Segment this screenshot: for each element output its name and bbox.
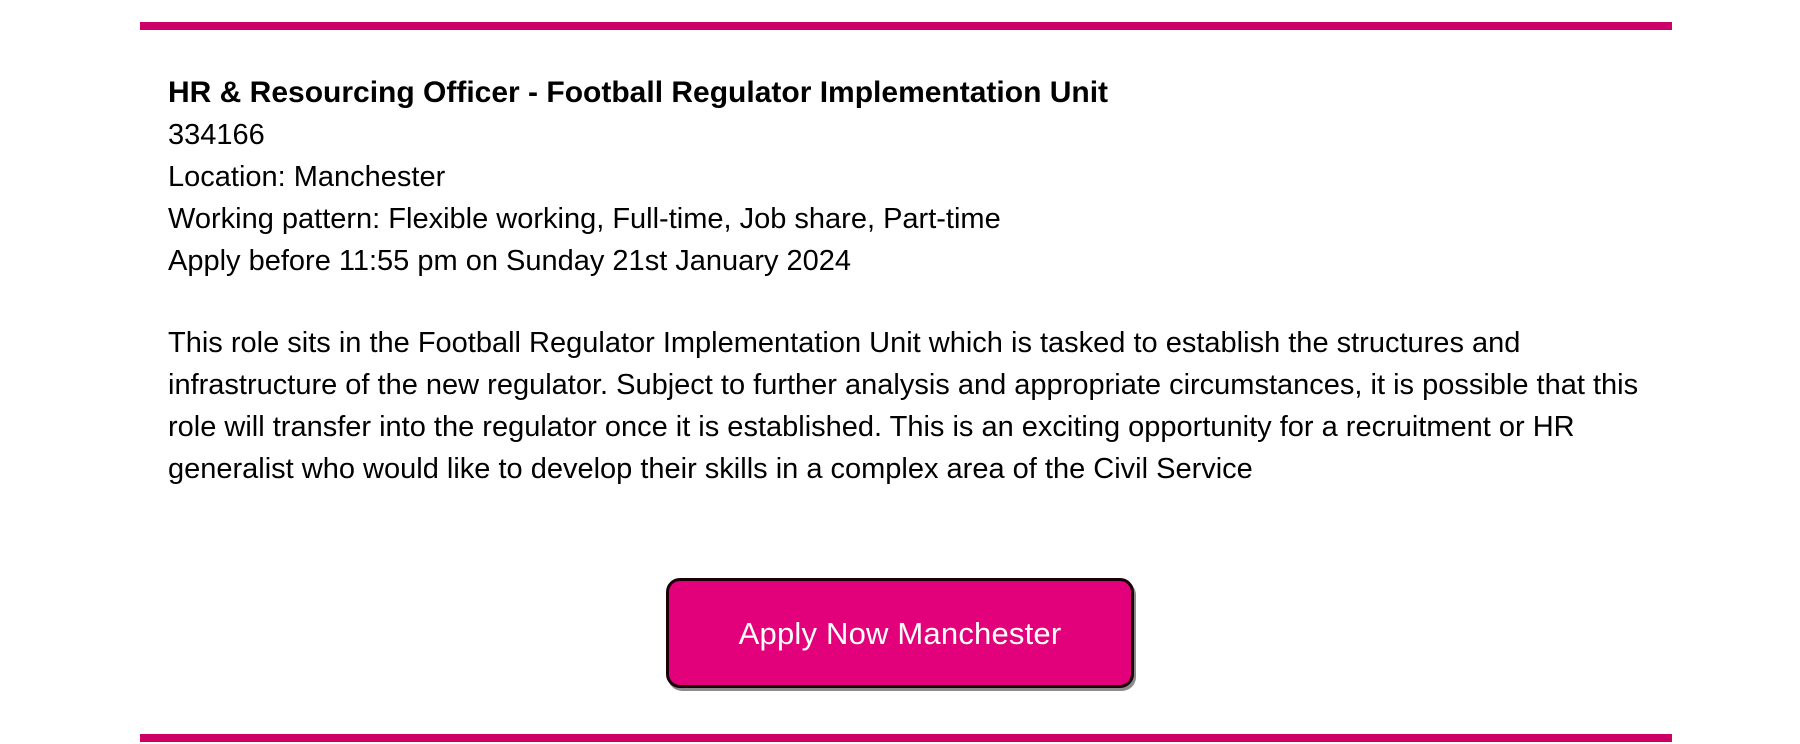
job-content: HR & Resourcing Officer - Football Regul… bbox=[168, 72, 1678, 490]
job-description: This role sits in the Football Regulator… bbox=[168, 322, 1663, 490]
apply-now-button[interactable]: Apply Now Manchester bbox=[666, 578, 1134, 688]
job-advert-card: HR & Resourcing Officer - Football Regul… bbox=[0, 0, 1800, 744]
job-reference: 334166 bbox=[168, 114, 1678, 156]
page-title: HR & Resourcing Officer - Football Regul… bbox=[168, 72, 1678, 114]
apply-button-row: Apply Now Manchester bbox=[0, 578, 1800, 688]
job-location: Location: Manchester bbox=[168, 156, 1678, 198]
top-accent-rule bbox=[140, 22, 1672, 30]
job-working-pattern: Working pattern: Flexible working, Full-… bbox=[168, 198, 1678, 240]
job-meta-list: 334166 Location: Manchester Working patt… bbox=[168, 114, 1678, 282]
job-closing-date: Apply before 11:55 pm on Sunday 21st Jan… bbox=[168, 240, 1678, 282]
bottom-accent-rule bbox=[140, 734, 1672, 742]
content-spacer bbox=[168, 282, 1678, 322]
